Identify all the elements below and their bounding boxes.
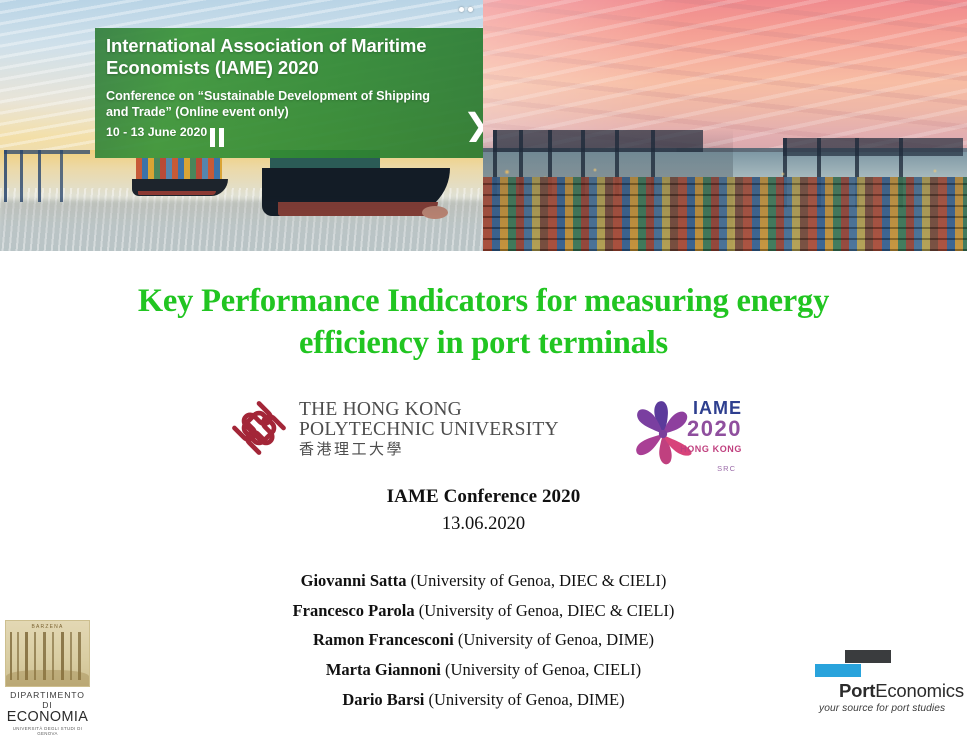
video-options-dots-icon[interactable] [459,7,473,12]
polyu-line1: THE HONG KONG [299,400,559,420]
conference-date: 13.06.2020 [0,514,967,535]
author-row: Giovanni Satta (University of Genoa, DIE… [0,566,967,596]
page-title-line1: Key Performance Indicators for measuring… [45,281,922,323]
author-affiliation: (University of Genoa, CIELI) [441,660,641,679]
banner-title-line1: International Association of Maritime [106,35,473,57]
economia-line3: UNIVERSITÀ DEGLI STUDI DI GENOVA [5,726,90,736]
economia-line1: DIPARTIMENTO DI [5,690,90,710]
engraving-caption: BARZENA [6,624,89,630]
iame-sub-label: SRC [717,464,736,473]
iame-city: HONG KONG [680,444,742,454]
iame-2020-hong-kong-logo: IAME 2020 HONG KONG SRC [628,395,744,475]
banner-subtitle-line1: Conference on “Sustainable Development o… [106,88,473,104]
genoa-engraving-image: BARZENA [5,620,90,687]
banner-dates: 10 - 13 June 2020 [106,125,473,139]
water-reflection [0,200,483,251]
banner-title-line2: Economists (IAME) 2020 [106,57,473,79]
polyu-line2: POLYTECHNIC UNIVERSITY [299,420,559,440]
quay-crane-silhouette [4,150,90,202]
header-image-strip: International Association of Maritime Ec… [0,0,967,251]
porteconomics-tagline: your source for port studies [819,703,945,714]
author-row: Francesco Parola (University of Genoa, D… [0,596,967,626]
next-chevron-icon[interactable]: ❯ [463,108,483,142]
economia-line2: ECONOMIA [5,710,90,725]
iame-wordmark: IAME 2020 HONG KONG [680,399,742,456]
porteconomics-wordmark: PortEconomics [839,680,964,702]
page-title-line2: efficiency in port terminals [45,323,922,365]
conference-name: IAME Conference 2020 [0,486,967,508]
banner-subtitle-line2: and Trade” (Online event only) [106,104,473,120]
author-name: Ramon Francesconi [313,630,454,649]
author-affiliation: (University of Genoa, DIME) [454,630,654,649]
iame-acronym: IAME [693,398,742,418]
container-yard-stacks [483,177,967,251]
sunset-port-photo [483,0,967,251]
page-title: Key Performance Indicators for measuring… [45,281,922,365]
polyu-knot-emblem-icon [228,397,290,459]
porteconomics-logo[interactable]: PortEconomics your source for port studi… [801,648,953,714]
dipartimento-di-economia-logo: BARZENA DIPARTIMENTO DI ECONOMIA UNIVERS… [5,620,90,717]
polyu-wordmark: THE HONG KONG POLYTECHNIC UNIVERSITY 香港理… [299,400,559,457]
conference-meta: IAME Conference 2020 13.06.2020 [0,486,967,535]
porteconomics-dark-bar-icon [845,650,891,663]
author-name: Dario Barsi [342,690,424,709]
polyu-chinese-name: 香港理工大學 [299,442,559,457]
ship-containers [136,158,222,180]
author-name: Giovanni Satta [301,571,407,590]
hong-kong-polytechnic-university-logo: THE HONG KONG POLYTECHNIC UNIVERSITY 香港理… [228,397,559,459]
iame-conference-banner-image[interactable]: International Association of Maritime Ec… [0,0,483,251]
iame-year: 2020 [687,416,742,441]
porteconomics-blue-bar-icon [815,664,861,677]
conference-banner-overlay: International Association of Maritime Ec… [95,28,483,158]
porteconomics-word-bold: Port [839,680,875,701]
porteconomics-word-light: Economics [875,680,964,701]
feeder-container-ship [132,158,228,196]
pause-icon[interactable] [210,128,226,147]
author-affiliation: (University of Genoa, DIEC & CIELI) [415,601,675,620]
author-affiliation: (University of Genoa, DIEC & CIELI) [407,571,667,590]
institution-logos-row: THE HONG KONG POLYTECHNIC UNIVERSITY 香港理… [0,395,967,479]
author-name: Francesco Parola [293,601,415,620]
author-affiliation: (University of Genoa, DIME) [424,690,624,709]
author-name: Marta Giannoni [326,660,441,679]
ship-boot-stripe [138,191,216,195]
